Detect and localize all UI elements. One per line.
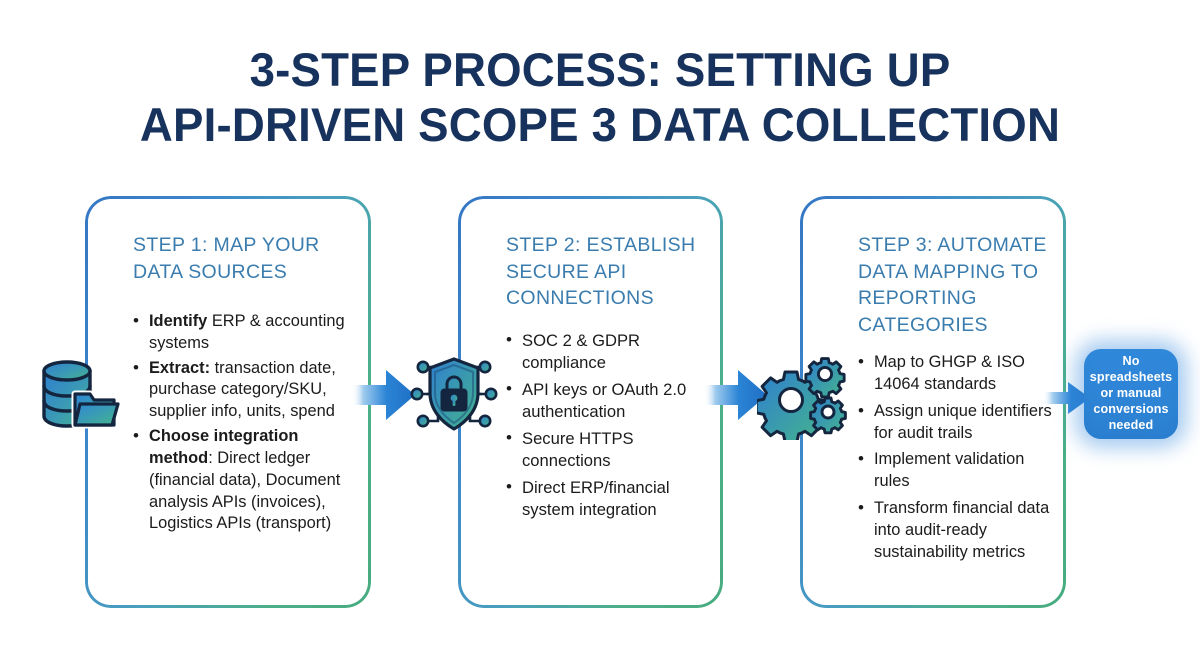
list-item: Map to GHGP & ISO 14064 standards — [858, 352, 1054, 396]
step-card-1: STEP 1: MAP YOUR DATA SOURCES Identify E… — [85, 196, 371, 608]
list-item: Extract: transaction date, purchase cate… — [133, 358, 347, 423]
list-item: Assign unique identifiers for audit trai… — [858, 401, 1054, 445]
list-item: Implement validation rules — [858, 449, 1054, 493]
gears-icon — [757, 348, 849, 440]
result-badge-text: No spreadsheets or manual conversions ne… — [1090, 354, 1172, 433]
bullet-lead: Extract: — [149, 359, 210, 377]
list-item: Direct ERP/financial system integration — [506, 477, 707, 521]
title-line-2: API-DRIVEN SCOPE 3 DATA COLLECTION — [18, 101, 1182, 149]
database-folder-icon — [34, 350, 124, 440]
step-card-2-bullet-list: SOC 2 & GDPR compliance API keys or OAut… — [506, 330, 707, 522]
step-card-3-bullet-list: Map to GHGP & ISO 14064 standards Assign… — [858, 352, 1054, 563]
page-title: 3-STEP PROCESS: SETTING UP API-DRIVEN SC… — [0, 46, 1200, 149]
arrow-step1-to-step2-icon — [352, 364, 416, 426]
title-line-1: 3-STEP PROCESS: SETTING UP — [18, 46, 1182, 94]
list-item: Choose integration method: Direct ledger… — [133, 426, 347, 535]
list-item: Identify ERP & accounting systems — [133, 311, 347, 355]
result-badge: No spreadsheets or manual conversions ne… — [1084, 349, 1178, 439]
step-card-1-heading: STEP 1: MAP YOUR DATA SOURCES — [133, 232, 347, 285]
step-card-1-content: STEP 1: MAP YOUR DATA SOURCES Identify E… — [85, 196, 371, 608]
step-card-2-heading: STEP 2: ESTABLISH SECURE API CONNECTIONS — [506, 232, 707, 312]
list-item: API keys or OAuth 2.0 authentication — [506, 379, 707, 423]
list-item: Secure HTTPS connections — [506, 428, 707, 472]
bullet-lead: Identify — [149, 312, 207, 330]
list-item: SOC 2 & GDPR compliance — [506, 330, 707, 374]
list-item: Transform financial data into audit-read… — [858, 498, 1054, 563]
step-card-1-bullet-list: Identify ERP & accounting systems Extrac… — [133, 311, 347, 535]
step-card-3-heading: STEP 3: AUTOMATE DATA MAPPING TO REPORTI… — [858, 232, 1054, 338]
shield-lock-network-icon — [408, 348, 500, 440]
